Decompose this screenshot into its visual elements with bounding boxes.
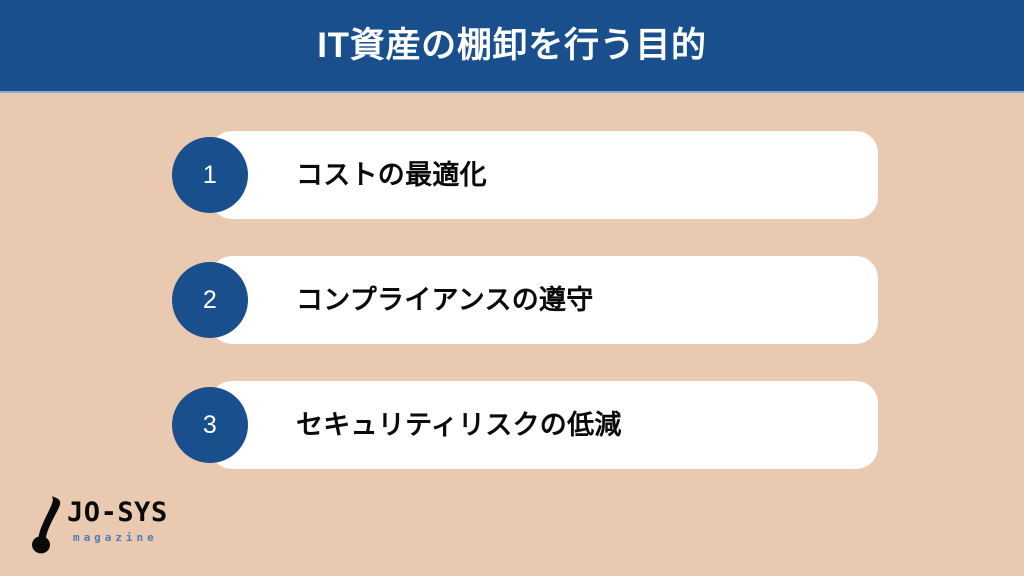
- point-label: セキュリティリスクの低減: [296, 412, 622, 439]
- brand-logo: JO-SYS magazine: [27, 494, 202, 556]
- logo-wordmark: JO-SYS: [67, 499, 202, 526]
- header-banner: IT資産の棚卸を行う目的: [0, 0, 1024, 93]
- point-label: コンプライアンスの遵守: [296, 287, 594, 314]
- list-item: コンプライアンスの遵守 2: [172, 256, 878, 344]
- point-number-badge: 2: [172, 262, 248, 338]
- point-label: コストの最適化: [296, 162, 487, 189]
- point-card: コンプライアンスの遵守: [210, 256, 878, 344]
- point-number: 2: [203, 288, 217, 313]
- list-item: コストの最適化 1: [172, 131, 878, 219]
- point-number: 3: [203, 413, 217, 438]
- point-number-badge: 3: [172, 387, 248, 463]
- point-card: コストの最適化: [210, 131, 878, 219]
- logo-wordmark-group: JO-SYS magazine: [67, 499, 202, 543]
- point-card: セキュリティリスクの低減: [210, 381, 878, 469]
- logo-subwordmark: magazine: [73, 532, 202, 543]
- page-title: IT資産の棚卸を行う目的: [317, 28, 707, 63]
- slide-canvas: IT資産の棚卸を行う目的 コストの最適化 1 コンプライアンスの遵守 2 セキュ…: [0, 0, 1024, 576]
- point-number: 1: [203, 163, 217, 188]
- point-number-badge: 1: [172, 137, 248, 213]
- list-item: セキュリティリスクの低減 3: [172, 381, 878, 469]
- musical-note-icon: [27, 496, 67, 554]
